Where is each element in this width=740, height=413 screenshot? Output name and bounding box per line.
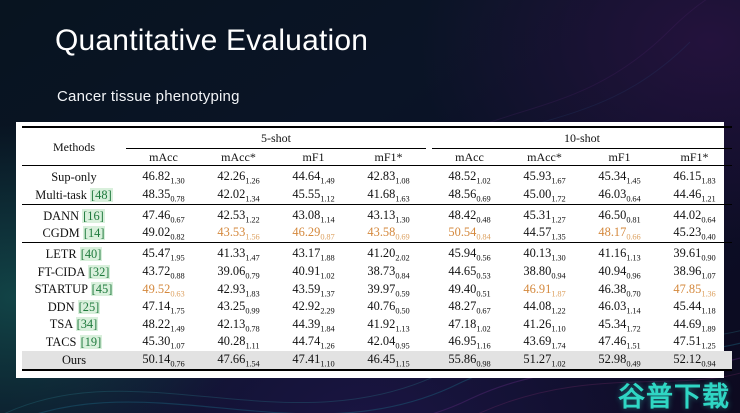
metric-std: 0.63: [170, 289, 184, 298]
metric-value: 40.911.02: [276, 264, 351, 282]
metric-value: 47.460.67: [126, 207, 201, 225]
metric-std: 0.53: [476, 272, 490, 281]
metric-value: 44.571.35: [507, 225, 582, 243]
table-row: LETR [40]45.471.9541.331.4743.171.8841.2…: [22, 246, 732, 264]
metric-value: 39.060.79: [201, 264, 276, 282]
metric-std: 0.56: [476, 254, 490, 263]
metric-std: 1.10: [551, 324, 565, 333]
metric-value: 46.290.87: [276, 225, 351, 243]
group-header-10shot-label: 10-shot: [432, 131, 732, 149]
row-method-cgdm: CGDM [14]: [22, 225, 126, 243]
metric-std: 1.83: [701, 177, 715, 186]
metric-value: 43.591.37: [276, 281, 351, 299]
table-row: CGDM [14]49.020.8243.531.5646.290.8743.5…: [22, 225, 732, 243]
metric-std: 0.66: [626, 233, 640, 242]
metric-value: 47.461.51: [582, 334, 657, 352]
watermark-logo: 谷普下载: [618, 384, 730, 411]
metric-std: 0.70: [626, 289, 640, 298]
metric-std: 1.95: [170, 254, 184, 263]
metric-std: 0.64: [626, 194, 640, 203]
metric-value: 45.341.45: [582, 169, 657, 187]
table-row: DDN [25]47.141.7543.250.9942.922.2940.76…: [22, 299, 732, 317]
citation-ref: [48]: [90, 188, 113, 202]
citation-ref: [45]: [91, 282, 114, 296]
metric-std: 0.88: [170, 272, 184, 281]
metric-std: 1.83: [245, 289, 259, 298]
metric-value: 47.661.54: [201, 351, 276, 370]
metric-header-5shot-mAcc: mAcc: [126, 149, 201, 166]
metric-std: 1.63: [395, 194, 409, 203]
metric-value: 48.221.49: [126, 316, 201, 334]
metric-value: 43.531.56: [201, 225, 276, 243]
citation-ref: [16]: [82, 209, 105, 223]
metric-std: 0.51: [476, 289, 490, 298]
row-method-dann: DANN [16]: [22, 207, 126, 225]
table-row: FT-CIDA [32]43.720.8839.060.7940.911.023…: [22, 264, 732, 282]
metric-std: 1.72: [626, 324, 640, 333]
metric-std: 0.82: [170, 233, 184, 242]
metric-std: 1.13: [395, 324, 409, 333]
metric-value: 41.331.47: [201, 246, 276, 264]
metric-value: 39.970.59: [351, 281, 426, 299]
metric-value: 41.921.13: [351, 316, 426, 334]
metric-std: 1.56: [245, 233, 259, 242]
table-row: TSA [34]48.221.4942.130.7844.391.8441.92…: [22, 316, 732, 334]
metric-value: 41.161.13: [582, 246, 657, 264]
table-row: DANN [16]47.460.6742.531.2243.081.1443.1…: [22, 207, 732, 225]
metric-std: 1.27: [551, 215, 565, 224]
row-method-tacs: TACS [19]: [22, 334, 126, 352]
slide-canvas: Quantitative Evaluation Cancer tissue ph…: [0, 0, 740, 413]
metric-value: 42.831.08: [351, 169, 426, 187]
metric-std: 1.14: [320, 215, 334, 224]
metric-std: 1.22: [551, 307, 565, 316]
group-header-5shot: 5-shot: [126, 130, 426, 149]
group-header-5shot-label: 5-shot: [126, 131, 426, 149]
metric-value: 50.140.76: [126, 351, 201, 370]
table-row: Ours50.140.7647.661.5447.411.1046.451.15…: [22, 351, 732, 370]
metric-header-5shot-mAccstar: mAcc*: [201, 149, 276, 166]
metric-std: 0.94: [551, 272, 565, 281]
results-table-card: Methods5-shot10-shotmAccmAcc*mF1mF1*mAcc…: [16, 122, 724, 378]
metric-std: 0.79: [245, 272, 259, 281]
metric-value: 45.441.18: [657, 299, 732, 317]
metric-std: 1.07: [701, 272, 715, 281]
metric-std: 0.69: [476, 194, 490, 203]
metric-value: 46.951.16: [432, 334, 507, 352]
metric-value: 47.851.36: [657, 281, 732, 299]
metric-value: 43.580.69: [351, 225, 426, 243]
metric-std: 0.99: [245, 307, 259, 316]
metric-value: 45.001.72: [507, 186, 582, 204]
row-method-multi-task: Multi-task [48]: [22, 186, 126, 204]
metric-std: 0.84: [476, 233, 490, 242]
metric-std: 1.02: [476, 324, 490, 333]
metric-std: 0.98: [476, 359, 490, 368]
metric-std: 0.48: [476, 215, 490, 224]
metric-std: 1.67: [551, 177, 565, 186]
metric-value: 46.031.14: [582, 299, 657, 317]
metric-value: 47.511.25: [657, 334, 732, 352]
citation-ref: [32]: [88, 265, 111, 279]
metric-std: 0.94: [701, 359, 715, 368]
group-header-10shot: 10-shot: [432, 130, 732, 149]
metric-value: 52.980.49: [582, 351, 657, 370]
metric-std: 1.25: [701, 342, 715, 351]
table-row: Multi-task [48]48.350.7842.021.3445.551.…: [22, 186, 732, 204]
table-row: Sup-only46.821.3042.261.2644.641.4942.83…: [22, 169, 732, 187]
metric-std: 2.02: [395, 254, 409, 263]
metric-std: 1.87: [551, 289, 565, 298]
metric-value: 41.261.10: [507, 316, 582, 334]
metric-std: 1.18: [701, 307, 715, 316]
metric-value: 45.471.95: [126, 246, 201, 264]
metric-std: 1.10: [320, 359, 334, 368]
page-title: Quantitative Evaluation: [55, 26, 368, 56]
metric-std: 1.45: [626, 177, 640, 186]
metric-std: 1.89: [701, 324, 715, 333]
metric-value: 42.922.29: [276, 299, 351, 317]
metric-value: 40.940.96: [582, 264, 657, 282]
metric-std: 1.75: [170, 307, 184, 316]
metric-header-10shot-mAccstar: mAcc*: [507, 149, 582, 166]
metric-value: 46.500.81: [582, 207, 657, 225]
citation-ref: [40]: [80, 247, 103, 261]
metric-value: 40.131.30: [507, 246, 582, 264]
metric-std: 1.88: [320, 254, 334, 263]
citation-ref: [25]: [78, 300, 101, 314]
metric-value: 46.030.64: [582, 186, 657, 204]
metric-value: 44.461.21: [657, 186, 732, 204]
metric-value: 46.821.30: [126, 169, 201, 187]
metric-value: 45.311.27: [507, 207, 582, 225]
metric-value: 50.540.84: [432, 225, 507, 243]
metric-value: 47.181.02: [432, 316, 507, 334]
metric-std: 1.34: [245, 194, 259, 203]
metric-value: 44.741.26: [276, 334, 351, 352]
metric-std: 1.37: [320, 289, 334, 298]
metric-std: 1.26: [245, 177, 259, 186]
metric-std: 1.07: [170, 342, 184, 351]
table-bottom-rule: [22, 370, 732, 373]
metric-std: 1.47: [245, 254, 259, 263]
citation-ref: [34]: [76, 317, 99, 331]
metric-value: 46.911.87: [507, 281, 582, 299]
metric-value: 42.531.22: [201, 207, 276, 225]
metric-value: 43.720.88: [126, 264, 201, 282]
metric-value: 42.931.83: [201, 281, 276, 299]
metric-std: 1.02: [320, 272, 334, 281]
row-method-sup-only: Sup-only: [22, 169, 126, 187]
row-method-ddn: DDN [25]: [22, 299, 126, 317]
metric-value: 38.800.94: [507, 264, 582, 282]
metric-std: 2.29: [320, 307, 334, 316]
citation-ref: [14]: [83, 226, 106, 240]
metric-std: 0.69: [395, 233, 409, 242]
metric-std: 1.21: [701, 194, 715, 203]
row-method-startup: STARTUP [45]: [22, 281, 126, 299]
metric-std: 1.11: [245, 342, 259, 351]
metric-std: 1.22: [245, 215, 259, 224]
metric-value: 47.141.75: [126, 299, 201, 317]
metric-value: 42.021.34: [201, 186, 276, 204]
metric-value: 51.271.02: [507, 351, 582, 370]
metric-std: 1.02: [476, 177, 490, 186]
metric-std: 0.87: [320, 233, 334, 242]
page-subtitle: Cancer tissue phenotyping: [57, 88, 240, 105]
results-table: Methods5-shot10-shotmAccmAcc*mF1mF1*mAcc…: [22, 126, 732, 373]
metric-std: 1.26: [320, 342, 334, 351]
metric-value: 46.451.15: [351, 351, 426, 370]
table-metric-header-row: mAccmAcc*mF1mF1*mAccmAcc*mF1mF1*: [22, 149, 732, 166]
metric-std: 1.30: [551, 254, 565, 263]
metric-value: 48.170.66: [582, 225, 657, 243]
metric-value: 52.120.94: [657, 351, 732, 370]
metric-std: 0.67: [476, 307, 490, 316]
metric-std: 0.67: [170, 215, 184, 224]
metric-value: 44.650.53: [432, 264, 507, 282]
metric-std: 0.84: [395, 272, 409, 281]
metric-value: 48.560.69: [432, 186, 507, 204]
metric-header-5shot-mF1star: mF1*: [351, 149, 426, 166]
metric-value: 44.081.22: [507, 299, 582, 317]
metric-value: 39.610.90: [657, 246, 732, 264]
citation-ref: [19]: [80, 335, 103, 349]
metric-value: 44.020.64: [657, 207, 732, 225]
row-method-letr: LETR [40]: [22, 246, 126, 264]
metric-value: 42.261.26: [201, 169, 276, 187]
metric-std: 0.59: [395, 289, 409, 298]
metric-value: 48.350.78: [126, 186, 201, 204]
metric-std: 0.50: [395, 307, 409, 316]
metric-std: 1.72: [551, 194, 565, 203]
metric-value: 48.270.67: [432, 299, 507, 317]
metric-value: 42.040.95: [351, 334, 426, 352]
metric-std: 0.49: [626, 359, 640, 368]
metric-std: 1.84: [320, 324, 334, 333]
metric-std: 1.30: [170, 177, 184, 186]
metric-value: 38.961.07: [657, 264, 732, 282]
metric-std: 1.54: [245, 359, 259, 368]
metric-std: 0.81: [626, 215, 640, 224]
metric-value: 46.151.83: [657, 169, 732, 187]
metric-std: 1.02: [551, 359, 565, 368]
row-method-ft-cida: FT-CIDA [32]: [22, 264, 126, 282]
metric-value: 55.860.98: [432, 351, 507, 370]
metric-value: 49.400.51: [432, 281, 507, 299]
metric-value: 41.202.02: [351, 246, 426, 264]
metric-value: 45.301.07: [126, 334, 201, 352]
metric-value: 49.020.82: [126, 225, 201, 243]
metric-header-10shot-mF1star: mF1*: [657, 149, 732, 166]
metric-std: 1.16: [476, 342, 490, 351]
metric-value: 43.131.30: [351, 207, 426, 225]
metric-std: 0.78: [245, 324, 259, 333]
metric-std: 1.15: [395, 359, 409, 368]
metric-value: 43.171.88: [276, 246, 351, 264]
metric-std: 0.96: [626, 272, 640, 281]
metric-std: 1.49: [320, 177, 334, 186]
rule-cell: [22, 370, 732, 373]
metric-std: 1.12: [320, 194, 334, 203]
metric-value: 41.681.63: [351, 186, 426, 204]
table-row: TACS [19]45.301.0740.281.1144.741.2642.0…: [22, 334, 732, 352]
metric-std: 1.74: [551, 342, 565, 351]
metric-value: 44.391.84: [276, 316, 351, 334]
metric-std: 1.35: [551, 233, 565, 242]
metric-value: 45.230.40: [657, 225, 732, 243]
metric-std: 0.40: [701, 233, 715, 242]
metric-value: 43.081.14: [276, 207, 351, 225]
metric-value: 40.281.11: [201, 334, 276, 352]
metric-value: 43.691.74: [507, 334, 582, 352]
table-row: STARTUP [45]49.520.6342.931.8343.591.373…: [22, 281, 732, 299]
metric-value: 44.641.49: [276, 169, 351, 187]
metric-std: 1.13: [626, 254, 640, 263]
metric-std: 1.14: [626, 307, 640, 316]
row-method-ours: Ours: [22, 351, 126, 370]
metric-std: 0.64: [701, 215, 715, 224]
metric-std: 1.30: [395, 215, 409, 224]
metric-value: 42.130.78: [201, 316, 276, 334]
metric-value: 48.420.48: [432, 207, 507, 225]
metric-std: 1.36: [701, 289, 715, 298]
metric-std: 1.49: [170, 324, 184, 333]
metric-value: 45.940.56: [432, 246, 507, 264]
metric-value: 40.760.50: [351, 299, 426, 317]
metric-value: 44.691.89: [657, 316, 732, 334]
metric-value: 45.931.67: [507, 169, 582, 187]
metric-value: 45.551.12: [276, 186, 351, 204]
metric-value: 38.730.84: [351, 264, 426, 282]
metric-value: 46.380.70: [582, 281, 657, 299]
methods-header-cell: Methods: [22, 130, 126, 166]
metric-value: 43.250.99: [201, 299, 276, 317]
metric-std: 0.76: [170, 359, 184, 368]
metric-value: 49.520.63: [126, 281, 201, 299]
metric-value: 45.341.72: [582, 316, 657, 334]
metric-std: 0.78: [170, 194, 184, 203]
metric-value: 48.521.02: [432, 169, 507, 187]
metric-std: 0.95: [395, 342, 409, 351]
table-group-header-row: Methods5-shot10-shot: [22, 130, 732, 149]
metric-header-10shot-mAcc: mAcc: [432, 149, 507, 166]
metric-value: 47.411.10: [276, 351, 351, 370]
row-method-tsa: TSA [34]: [22, 316, 126, 334]
metric-header-5shot-mF1: mF1: [276, 149, 351, 166]
metric-std: 1.51: [626, 342, 640, 351]
metric-std: 1.08: [395, 177, 409, 186]
metric-std: 0.90: [701, 254, 715, 263]
metric-header-10shot-mF1: mF1: [582, 149, 657, 166]
